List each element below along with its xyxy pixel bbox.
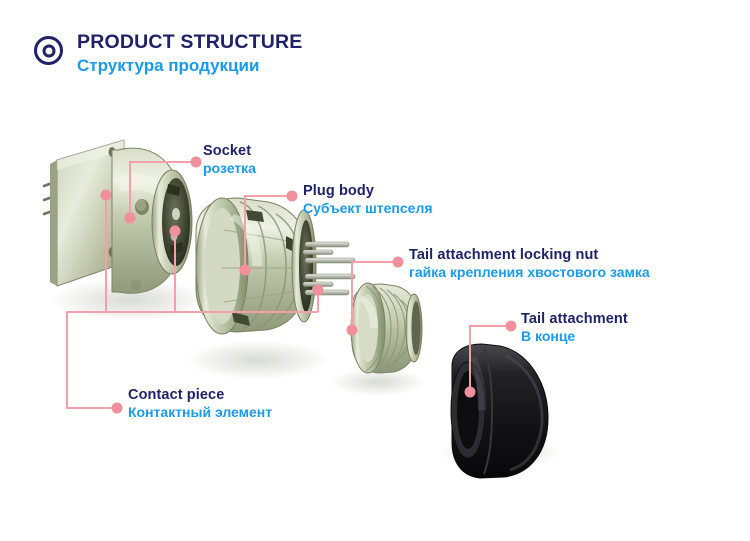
callout-contact-piece-en: Contact piece <box>128 388 272 404</box>
dot-plug-body <box>240 265 251 276</box>
callout-contact-piece-ru: Контактный элемент <box>128 405 272 420</box>
dot-tail-attachment-label <box>506 321 517 332</box>
callout-socket-en: Socket <box>203 144 256 160</box>
dot-contact-socket-pins <box>101 190 112 201</box>
dot-tail-attachment <box>465 387 476 398</box>
concentric-circles-logo-icon <box>34 36 63 65</box>
callout-tail-attachment: Tail attachment В конце <box>521 312 628 344</box>
dot-contact-piece-label <box>112 403 123 414</box>
tail-attachment-component <box>451 344 548 478</box>
dot-socket-body <box>125 213 136 224</box>
callout-plug-body-en: Plug body <box>303 184 433 200</box>
dot-contact-plug-pins <box>313 285 324 296</box>
plug-body-component <box>196 198 355 334</box>
callout-tail-attachment-en: Tail attachment <box>521 312 628 328</box>
page-title: PRODUCT STRUCTURE <box>77 32 302 54</box>
locking-nut-component <box>351 283 422 373</box>
callout-locking-nut-en: Tail attachment locking nut <box>409 248 650 264</box>
page-header: PRODUCT STRUCTURE Структура продукции <box>34 32 302 75</box>
product-structure-diagram: PRODUCT STRUCTURE Структура продукции So… <box>0 0 750 541</box>
callout-tail-attachment-ru: В конце <box>521 329 628 344</box>
callout-tail-attachment-locking-nut: Tail attachment locking nut гайка крепле… <box>409 248 650 280</box>
page-subtitle: Структура продукции <box>77 56 302 75</box>
dot-contact-socket-bore <box>170 226 181 237</box>
callout-contact-piece: Contact piece Контактный элемент <box>128 388 272 420</box>
callout-plug-body-ru: Субъект штепселя <box>303 201 433 216</box>
callout-socket-ru: розетка <box>203 161 256 176</box>
dot-socket-label <box>191 157 202 168</box>
callout-socket: Socket розетка <box>203 144 256 176</box>
dot-locking-nut-label <box>393 257 404 268</box>
callout-plug-body: Plug body Субъект штепселя <box>303 184 433 216</box>
dot-plug-body-label <box>287 191 298 202</box>
dot-locking-nut <box>347 325 358 336</box>
callout-locking-nut-ru: гайка крепления хвостового замка <box>409 265 650 280</box>
